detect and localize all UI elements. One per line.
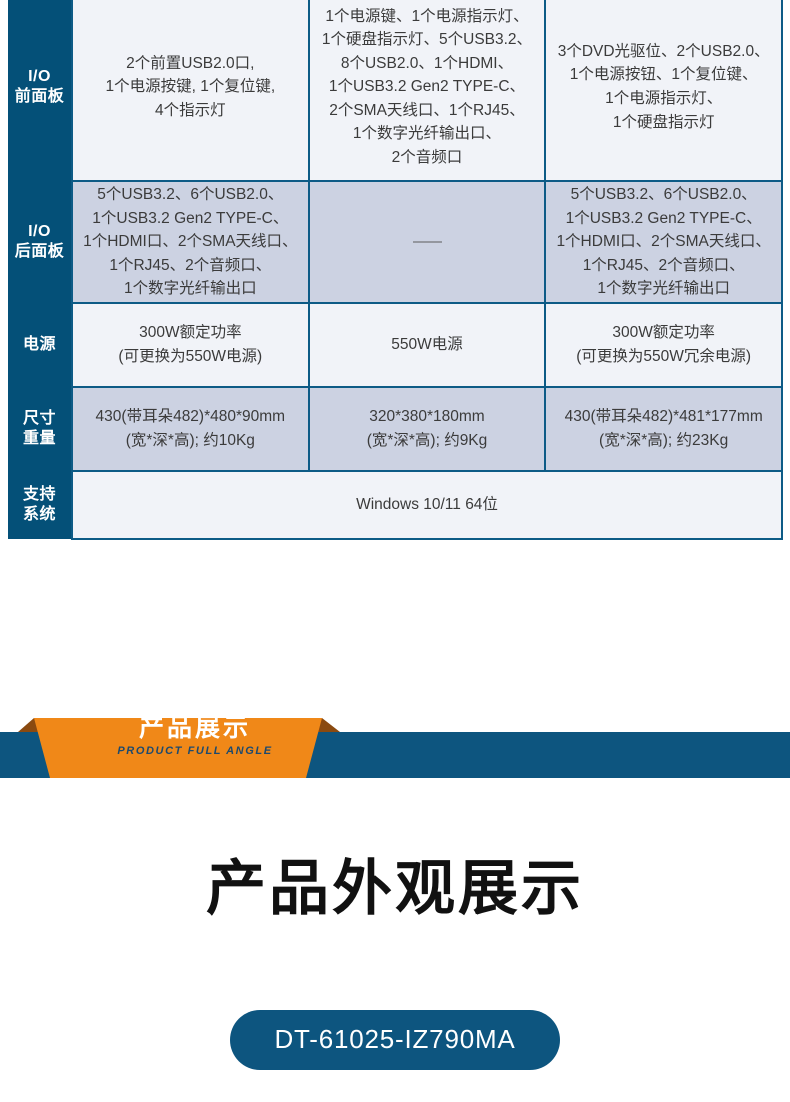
cell-os-all-models: Windows 10/11 64位 bbox=[72, 471, 782, 539]
row-label-line: 尺寸 bbox=[8, 409, 71, 429]
row-label-line: 后面板 bbox=[8, 242, 71, 262]
table-row: 尺寸 重量 430(带耳朵482)*480*90mm (宽*深*高); 约10K… bbox=[8, 387, 782, 471]
table-row: 支持 系统 Windows 10/11 64位 bbox=[8, 471, 782, 539]
row-label-line: I/O bbox=[8, 222, 71, 242]
model-badge-container: DT-61025-IZ790MA bbox=[0, 1010, 790, 1070]
row-label-power: 电源 bbox=[8, 303, 72, 387]
row-label-line: 前面板 bbox=[8, 87, 71, 107]
cell-power-model1: 300W额定功率 (可更换为550W电源) bbox=[72, 303, 309, 387]
section-banner: 产品展示 PRODUCT FULL ANGLE bbox=[0, 710, 790, 778]
row-label-io-back: I/O 后面板 bbox=[8, 181, 72, 303]
banner-subtitle: PRODUCT FULL ANGLE bbox=[85, 745, 305, 758]
cell-size-model2: 320*380*180mm (宽*深*高); 约9Kg bbox=[309, 387, 546, 471]
specification-table: I/O 前面板 2个前置USB2.0口, 1个电源按键, 1个复位键, 4个指示… bbox=[8, 0, 783, 540]
cell-io-front-model1: 2个前置USB2.0口, 1个电源按键, 1个复位键, 4个指示灯 bbox=[72, 0, 309, 181]
page-title: 产品外观展示 bbox=[0, 856, 790, 922]
cell-io-back-model1: 5个USB3.2、6个USB2.0、 1个USB3.2 Gen2 TYPE-C、… bbox=[72, 181, 309, 303]
cell-size-model3: 430(带耳朵482)*481*177mm (宽*深*高); 约23Kg bbox=[545, 387, 782, 471]
row-label-line: 电源 bbox=[8, 335, 71, 355]
model-number-badge: DT-61025-IZ790MA bbox=[230, 1010, 559, 1070]
row-label-io-front: I/O 前面板 bbox=[8, 0, 72, 181]
cell-io-front-model3: 3个DVD光驱位、2个USB2.0、 1个电源按钮、1个复位键、 1个电源指示灯… bbox=[545, 0, 782, 181]
cell-power-model3: 300W额定功率 (可更换为550W冗余电源) bbox=[545, 303, 782, 387]
row-label-line: 系统 bbox=[8, 505, 71, 525]
row-label-line: 重量 bbox=[8, 429, 71, 449]
row-label-line: I/O bbox=[8, 67, 71, 87]
cell-io-back-model3: 5个USB3.2、6个USB2.0、 1个USB3.2 Gen2 TYPE-C、… bbox=[545, 181, 782, 303]
cell-io-back-model2: —— bbox=[309, 181, 546, 303]
row-label-line: 支持 bbox=[8, 485, 71, 505]
cell-size-model1: 430(带耳朵482)*480*90mm (宽*深*高); 约10Kg bbox=[72, 387, 309, 471]
row-label-size-weight: 尺寸 重量 bbox=[8, 387, 72, 471]
table-row: 电源 300W额定功率 (可更换为550W电源) 550W电源 300W额定功率… bbox=[8, 303, 782, 387]
banner-text-group: 产品展示 PRODUCT FULL ANGLE bbox=[85, 714, 305, 758]
cell-io-front-model2: 1个电源键、1个电源指示灯、 1个硬盘指示灯、5个USB3.2、 8个USB2.… bbox=[309, 0, 546, 181]
table-row: I/O 前面板 2个前置USB2.0口, 1个电源按键, 1个复位键, 4个指示… bbox=[8, 0, 782, 181]
row-label-os: 支持 系统 bbox=[8, 471, 72, 539]
cell-power-model2: 550W电源 bbox=[309, 303, 546, 387]
table-row: I/O 后面板 5个USB3.2、6个USB2.0、 1个USB3.2 Gen2… bbox=[8, 181, 782, 303]
banner-title: 产品展示 bbox=[85, 714, 305, 744]
